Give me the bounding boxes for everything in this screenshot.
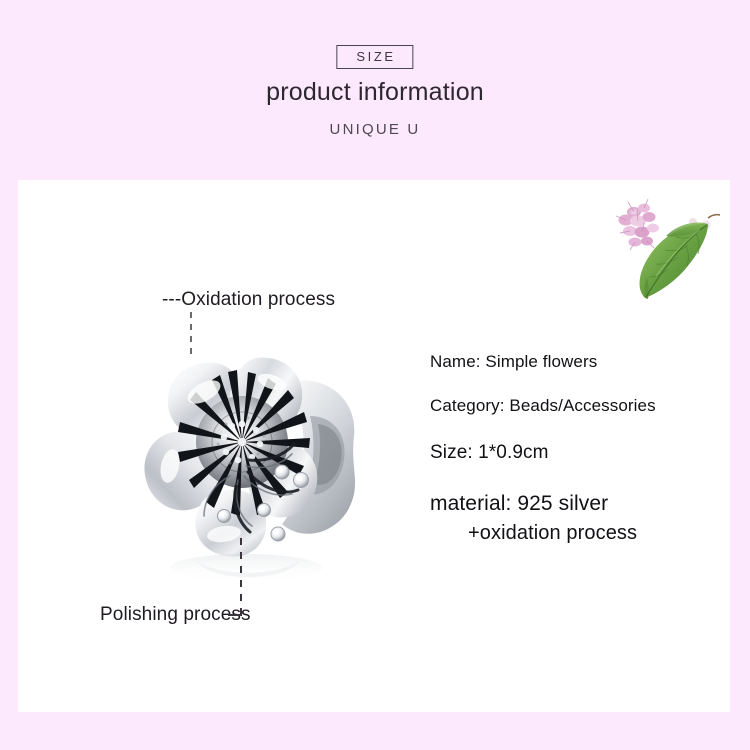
annotation-polishing-process: Polishing process	[100, 604, 251, 626]
product-card: ---Oxidation process Polishing process N…	[18, 180, 730, 712]
spec-material: material: 925 silver	[430, 492, 710, 516]
page-subtitle: UNIQUE U	[330, 121, 421, 138]
product-spec-list: Name: Simple flowers Category: Beads/Acc…	[430, 352, 710, 545]
spec-size: Size: 1*0.9cm	[430, 442, 710, 464]
page-title: product information	[266, 78, 484, 107]
annotation-oxidation-process: ---Oxidation process	[162, 289, 335, 311]
spec-material-extra: +oxidation process	[430, 522, 710, 545]
page-header: SIZE product information UNIQUE U	[0, 0, 750, 180]
spec-category: Category: Beads/Accessories	[430, 396, 710, 416]
botanical-leaf-blossom-illustration	[604, 188, 722, 306]
silver-flower-charm-bead	[96, 320, 386, 610]
spec-name: Name: Simple flowers	[430, 352, 710, 372]
size-badge: SIZE	[336, 45, 413, 69]
